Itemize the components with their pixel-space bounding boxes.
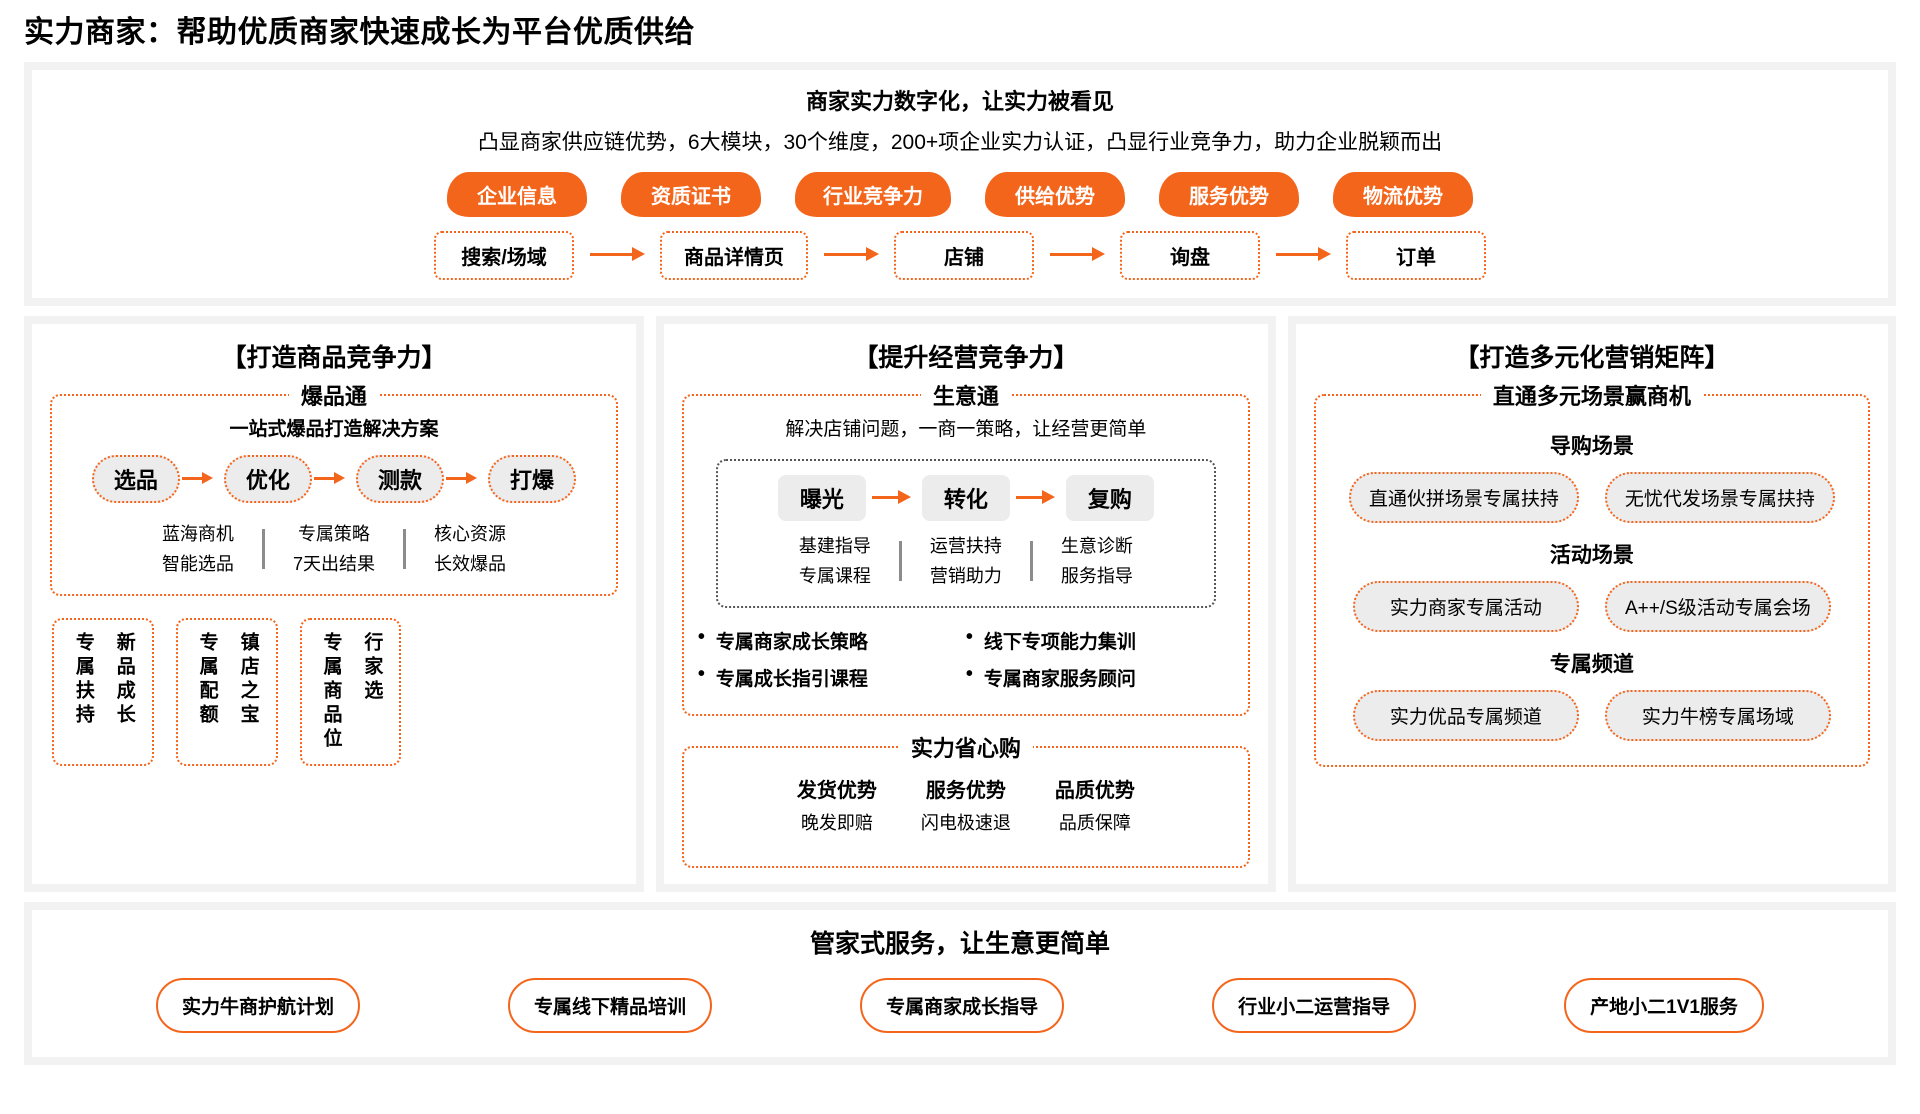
feature-line: 基建指导: [799, 531, 871, 562]
shengyitong-step[interactable]: 转化: [922, 475, 1010, 521]
flow-step[interactable]: 店铺: [894, 231, 1034, 280]
feature-cell: 品质优势 品质保障: [1033, 774, 1157, 839]
column-product-competitiveness: 【打造商品竞争力】 爆品通 一站式爆品打造解决方案 选品 优化 测款 打爆: [24, 316, 644, 893]
vertical-text-left: 行家选: [360, 632, 381, 752]
top-band-subtitle: 凸显商家供应链优势，6大模块，30个维度，200+项企业实力认证，凸显行业竞争力…: [42, 126, 1878, 156]
vertical-box[interactable]: 专属扶持 新品成长: [52, 618, 154, 766]
baopintong-subtitle: 一站式爆品打造解决方案: [66, 414, 602, 441]
feature-cell: 蓝海商机 智能选品: [140, 519, 256, 580]
bullet-item: 专属商家服务顾问: [966, 659, 1234, 696]
shengyitong-bullet-list: 专属商家成长策略 线下专项能力集训 专属成长指引课程 专属商家服务顾问: [698, 622, 1234, 696]
baopintong-legend: 爆品通: [289, 379, 379, 411]
capability-tag[interactable]: 物流优势: [1333, 172, 1473, 217]
scene-chip[interactable]: 实力牛榜专属场域: [1605, 690, 1831, 741]
feature-cell: 服务优势 闪电极速退: [899, 774, 1033, 839]
vertical-box[interactable]: 专属商品位 行家选: [300, 618, 402, 766]
feature-line: 智能选品: [162, 549, 234, 580]
column2-title: 【提升经营竞争力】: [678, 338, 1254, 374]
arrow-right-icon: [444, 470, 488, 488]
feature-cell: 生意诊断 服务指导: [1039, 531, 1155, 592]
capability-tag[interactable]: 资质证书: [621, 172, 761, 217]
slide-root: 实力商家：帮助优质商家快速成长为平台优质供给 商家实力数字化，让实力被看见 凸显…: [0, 0, 1920, 1114]
shengyitong-subtitle: 解决店铺问题，一商一策略，让经营更简单: [698, 414, 1234, 441]
feature-line: 闪电极速退: [921, 808, 1011, 839]
capability-tag[interactable]: 服务优势: [1159, 172, 1299, 217]
service-chip[interactable]: 产地小二1V1服务: [1564, 978, 1764, 1033]
feature-line: 运营扶持: [930, 531, 1002, 562]
feature-line: 7天出结果: [293, 549, 375, 580]
scene-chip-row: 实力商家专属活动 A++/S级活动专属会场: [1330, 581, 1854, 632]
vertical-text-right: 专属配额: [196, 632, 217, 752]
top-band-title: 商家实力数字化，让实力被看见: [42, 84, 1878, 116]
arrow-right-icon: [866, 487, 922, 509]
vertical-text-right: 专属商品位: [320, 632, 341, 752]
capability-tag-row: 企业信息 资质证书 行业竞争力 供给优势 服务优势 物流优势: [42, 172, 1878, 217]
scene-head: 专属频道: [1330, 648, 1854, 678]
flow-step[interactable]: 订单: [1346, 231, 1486, 280]
arrow-right-icon: [1034, 244, 1120, 266]
feature-line: 生意诊断: [1061, 531, 1133, 562]
service-chip[interactable]: 专属线下精品培训: [508, 978, 712, 1033]
arrow-right-icon: [808, 244, 894, 266]
scene-chip[interactable]: 实力优品专属频道: [1353, 690, 1579, 741]
feature-cell: 基建指导 专属课程: [777, 531, 893, 592]
baopintong-group: 爆品通 一站式爆品打造解决方案 选品 优化 测款 打爆 蓝海商机: [50, 394, 618, 596]
column3-title: 【打造多元化营销矩阵】: [1310, 338, 1874, 374]
arrow-right-icon: [312, 470, 356, 488]
divider: [262, 529, 265, 569]
feature-line: 蓝海商机: [162, 519, 234, 550]
column-marketing-matrix: 【打造多元化营销矩阵】 直通多元场景赢商机 导购场景 直通伙拼场景专属扶持 无忧…: [1288, 316, 1896, 893]
scene-group: 直通多元场景赢商机 导购场景 直通伙拼场景专属扶持 无忧代发场景专属扶持 活动场…: [1314, 394, 1870, 767]
baopintong-step[interactable]: 打爆: [488, 455, 576, 503]
bullet-item: 线下专项能力集训: [966, 622, 1234, 659]
capability-tag[interactable]: 供给优势: [985, 172, 1125, 217]
feature-line: 服务指导: [1061, 561, 1133, 592]
divider: [899, 541, 902, 581]
scene-chip[interactable]: A++/S级活动专属会场: [1605, 581, 1831, 632]
shengxingou-feature-row: 发货优势 晚发即赔 服务优势 闪电极速退 品质优势 品质保障: [698, 774, 1234, 839]
baopintong-step[interactable]: 测款: [356, 455, 444, 503]
arrow-right-icon: [574, 244, 660, 266]
vertical-text-right: 专属扶持: [72, 632, 93, 752]
vertical-box[interactable]: 专属配额 镇店之宝: [176, 618, 278, 766]
shengxingou-group: 实力省心购 发货优势 晚发即赔 服务优势 闪电极速退 品质优势 品质保障: [682, 746, 1250, 869]
shengyitong-step[interactable]: 曝光: [778, 475, 866, 521]
flow-step[interactable]: 询盘: [1120, 231, 1260, 280]
feature-line: 晚发即赔: [797, 808, 877, 839]
feature-line: 品质保障: [1055, 808, 1135, 839]
arrow-right-icon: [180, 470, 224, 488]
baopintong-step[interactable]: 优化: [224, 455, 312, 503]
bullet-item: 专属成长指引课程: [698, 659, 966, 696]
shengyitong-legend: 生意通: [921, 379, 1011, 411]
feature-line: 核心资源: [434, 519, 506, 550]
vertical-text-left: 新品成长: [113, 632, 134, 752]
service-chip-row: 实力牛商护航计划 专属线下精品培训 专属商家成长指导 行业小二运营指导 产地小二…: [42, 978, 1878, 1033]
scene-chip-row: 实力优品专属频道 实力牛榜专属场域: [1330, 690, 1854, 741]
shengyitong-inner-group: 曝光 转化 复购 基建指导 专属课程: [716, 459, 1216, 608]
divider: [403, 529, 406, 569]
baopintong-step-row: 选品 优化 测款 打爆: [66, 455, 602, 503]
bottom-band-title: 管家式服务，让生意更简单: [42, 924, 1878, 960]
baopintong-feature-row: 蓝海商机 智能选品 专属策略 7天出结果 核心资源 长效爆品: [66, 519, 602, 580]
scene-chip[interactable]: 无忧代发场景专属扶持: [1605, 472, 1835, 523]
top-band: 商家实力数字化，让实力被看见 凸显商家供应链优势，6大模块，30个维度，200+…: [24, 62, 1896, 306]
service-chip[interactable]: 专属商家成长指导: [860, 978, 1064, 1033]
capability-tag[interactable]: 企业信息: [447, 172, 587, 217]
scene-chip-row: 直通伙拼场景专属扶持 无忧代发场景专属扶持: [1330, 472, 1854, 523]
shengyitong-feature-row: 基建指导 专属课程 运营扶持 营销助力 生意诊断 服务指导: [732, 531, 1200, 592]
bullet-item: 专属商家成长策略: [698, 622, 966, 659]
column-operation-competitiveness: 【提升经营竞争力】 生意通 解决店铺问题，一商一策略，让经营更简单 曝光 转化 …: [656, 316, 1276, 893]
vertical-box-row: 专属扶持 新品成长 专属配额 镇店之宝 专属商品位 行家选: [52, 618, 616, 766]
feature-line: 长效爆品: [434, 549, 506, 580]
shengyitong-group: 生意通 解决店铺问题，一商一策略，让经营更简单 曝光 转化 复购 基建指: [682, 394, 1250, 716]
flow-step[interactable]: 搜索/场域: [434, 231, 574, 280]
feature-cell: 专属策略 7天出结果: [271, 519, 397, 580]
capability-tag[interactable]: 行业竞争力: [795, 172, 951, 217]
column1-title: 【打造商品竞争力】: [46, 338, 622, 374]
feature-title: 服务优势: [921, 774, 1011, 808]
shengyitong-step[interactable]: 复购: [1066, 475, 1154, 521]
scene-head: 活动场景: [1330, 539, 1854, 569]
scene-chip[interactable]: 直通伙拼场景专属扶持: [1349, 472, 1579, 523]
scene-group-legend: 直通多元场景赢商机: [1481, 379, 1703, 411]
scene-chip[interactable]: 实力商家专属活动: [1353, 581, 1579, 632]
three-column-area: 【打造商品竞争力】 爆品通 一站式爆品打造解决方案 选品 优化 测款 打爆: [24, 316, 1896, 893]
feature-cell: 发货优势 晚发即赔: [775, 774, 899, 839]
shengxingou-legend: 实力省心购: [899, 731, 1033, 763]
service-chip[interactable]: 行业小二运营指导: [1212, 978, 1416, 1033]
divider: [1030, 541, 1033, 581]
touchpoint-flow-row: 搜索/场域 商品详情页 店铺 询盘 订单: [42, 231, 1878, 280]
feature-title: 发货优势: [797, 774, 877, 808]
flow-step[interactable]: 商品详情页: [660, 231, 808, 280]
feature-line: 专属课程: [799, 561, 871, 592]
feature-line: 专属策略: [293, 519, 375, 550]
feature-cell: 核心资源 长效爆品: [412, 519, 528, 580]
arrow-right-icon: [1010, 487, 1066, 509]
service-chip[interactable]: 实力牛商护航计划: [156, 978, 360, 1033]
arrow-right-icon: [1260, 244, 1346, 266]
page-title: 实力商家：帮助优质商家快速成长为平台优质供给: [0, 0, 1920, 62]
feature-title: 品质优势: [1055, 774, 1135, 808]
feature-cell: 运营扶持 营销助力: [908, 531, 1024, 592]
baopintong-step[interactable]: 选品: [92, 455, 180, 503]
shengyitong-step-row: 曝光 转化 复购: [732, 475, 1200, 521]
feature-line: 营销助力: [930, 561, 1002, 592]
bottom-band: 管家式服务，让生意更简单 实力牛商护航计划 专属线下精品培训 专属商家成长指导 …: [24, 902, 1896, 1065]
scene-head: 导购场景: [1330, 430, 1854, 460]
vertical-text-left: 镇店之宝: [237, 632, 258, 752]
